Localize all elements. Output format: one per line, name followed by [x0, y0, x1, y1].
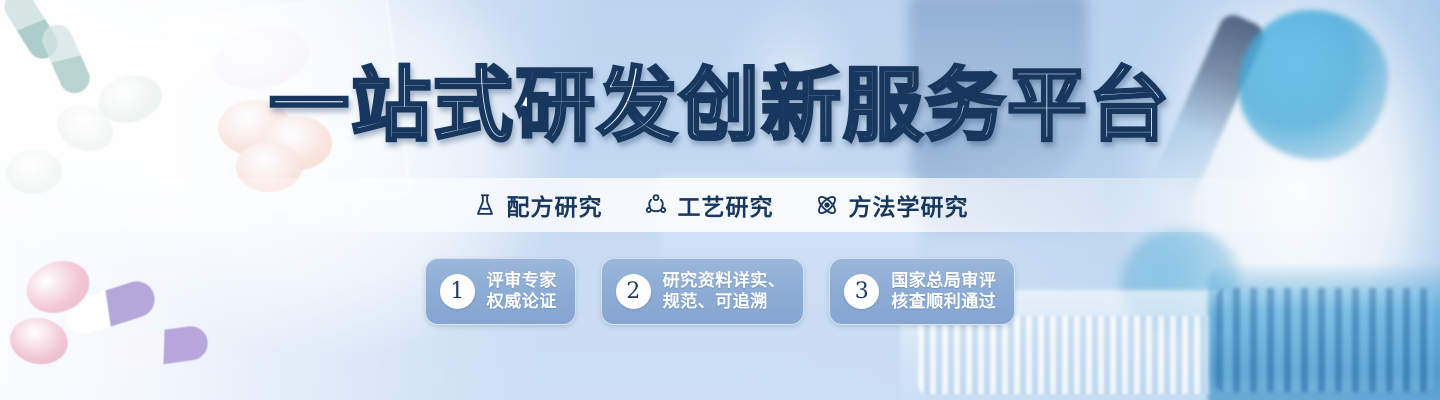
- service-item-formulation[interactable]: 配方研究: [472, 188, 603, 222]
- card-line-2: 权威论证: [487, 292, 557, 312]
- card-line-2: 规范、可追溯: [663, 292, 786, 312]
- card-number-badge: 3: [844, 274, 879, 309]
- card-line-1: 国家总局审评: [891, 271, 996, 291]
- molecule-icon: [643, 192, 669, 218]
- card-line-2: 核查顺利通过: [891, 292, 996, 312]
- card-line-1: 评审专家: [487, 271, 557, 291]
- card-text: 评审专家 权威论证: [487, 271, 557, 313]
- service-item-process[interactable]: 工艺研究: [643, 188, 774, 222]
- flask-icon: [472, 192, 498, 218]
- service-list: 配方研究 工艺研究: [0, 188, 1440, 222]
- service-label: 工艺研究: [678, 188, 774, 222]
- advantage-card-3[interactable]: 3 国家总局审评 核查顺利通过: [829, 258, 1015, 325]
- atom-icon: [814, 192, 840, 218]
- service-item-methodology[interactable]: 方法学研究: [814, 188, 969, 222]
- service-label: 配方研究: [507, 188, 603, 222]
- card-number-badge: 2: [616, 274, 651, 309]
- card-text: 研究资料详实、 规范、可追溯: [663, 271, 786, 313]
- advantage-card-1[interactable]: 1 评审专家 权威论证: [425, 258, 576, 325]
- service-label: 方法学研究: [849, 188, 969, 222]
- card-number-badge: 1: [440, 274, 475, 309]
- hero-banner: 一站式研发创新服务平台 配方研究: [0, 0, 1440, 400]
- advantage-card-list: 1 评审专家 权威论证 2 研究资料详实、 规范、可追溯 3 国家总局审评 核查…: [0, 258, 1440, 325]
- card-line-1: 研究资料详实、: [663, 271, 786, 291]
- advantage-card-2[interactable]: 2 研究资料详实、 规范、可追溯: [601, 258, 805, 325]
- page-title: 一站式研发创新服务平台: [269, 66, 1171, 146]
- banner-content: 一站式研发创新服务平台 配方研究: [0, 0, 1440, 400]
- card-text: 国家总局审评 核查顺利通过: [891, 271, 996, 313]
